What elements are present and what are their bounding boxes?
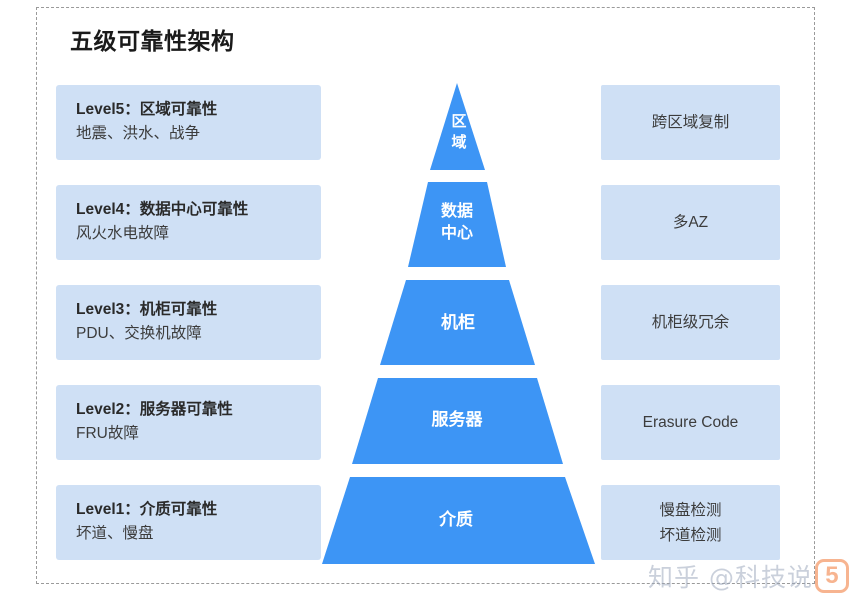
left-box-level4[interactable]: Level4：数据中心可靠性 风火水电故障 bbox=[56, 185, 321, 260]
page-title: 五级可靠性架构 bbox=[70, 22, 235, 56]
left-column: Level5：区域可靠性 地震、洪水、战争 Level4：数据中心可靠性 风火水… bbox=[56, 85, 321, 585]
left-box-level5[interactable]: Level5：区域可靠性 地震、洪水、战争 bbox=[56, 85, 321, 160]
zhihu-logo-icon: 5 bbox=[815, 559, 849, 593]
right-box-line2: 坏道检测 bbox=[659, 523, 721, 548]
left-box-title: Level4：数据中心可靠性 bbox=[76, 198, 321, 221]
left-box-title: Level5：区域可靠性 bbox=[76, 98, 321, 121]
left-box-subtitle: 风火水电故障 bbox=[76, 221, 321, 247]
reliability-pyramid: 区 域 数据 中心 机柜 服务器 介质 bbox=[300, 75, 620, 580]
right-box-line1: Erasure Code bbox=[643, 410, 739, 435]
left-box-title: Level3：机柜可靠性 bbox=[76, 298, 321, 321]
right-box-level2[interactable]: Erasure Code bbox=[601, 385, 780, 460]
left-box-title: Level2：服务器可靠性 bbox=[76, 398, 321, 421]
right-column: 跨区域复制 多AZ 机柜级冗余 Erasure Code 慢盘检测 坏道检测 bbox=[601, 85, 780, 585]
pyramid-shapes bbox=[300, 75, 620, 580]
right-box-level4[interactable]: 多AZ bbox=[601, 185, 780, 260]
right-box-level3[interactable]: 机柜级冗余 bbox=[601, 285, 780, 360]
right-box-line1: 机柜级冗余 bbox=[652, 310, 730, 335]
left-box-subtitle: PDU、交换机故障 bbox=[76, 321, 321, 347]
left-box-level1[interactable]: Level1：介质可靠性 坏道、慢盘 bbox=[56, 485, 321, 560]
left-box-subtitle: 地震、洪水、战争 bbox=[76, 121, 321, 147]
pyramid-tier-media bbox=[322, 477, 595, 564]
pyramid-tier-region bbox=[430, 83, 485, 170]
right-box-level1[interactable]: 慢盘检测 坏道检测 bbox=[601, 485, 780, 560]
left-box-subtitle: FRU故障 bbox=[76, 421, 321, 447]
left-box-title: Level1：介质可靠性 bbox=[76, 498, 321, 521]
pyramid-tier-datacenter bbox=[408, 182, 506, 267]
left-box-level2[interactable]: Level2：服务器可靠性 FRU故障 bbox=[56, 385, 321, 460]
pyramid-tier-server bbox=[352, 378, 563, 464]
right-box-line1: 跨区域复制 bbox=[652, 110, 730, 135]
right-box-line1: 慢盘检测 bbox=[659, 498, 721, 523]
left-box-level3[interactable]: Level3：机柜可靠性 PDU、交换机故障 bbox=[56, 285, 321, 360]
left-box-subtitle: 坏道、慢盘 bbox=[76, 521, 321, 547]
right-box-level5[interactable]: 跨区域复制 bbox=[601, 85, 780, 160]
diagram-canvas: 五级可靠性架构 Level5：区域可靠性 地震、洪水、战争 Level4：数据中… bbox=[0, 0, 857, 608]
pyramid-tier-rack bbox=[380, 280, 535, 365]
right-box-line1: 多AZ bbox=[673, 210, 708, 235]
